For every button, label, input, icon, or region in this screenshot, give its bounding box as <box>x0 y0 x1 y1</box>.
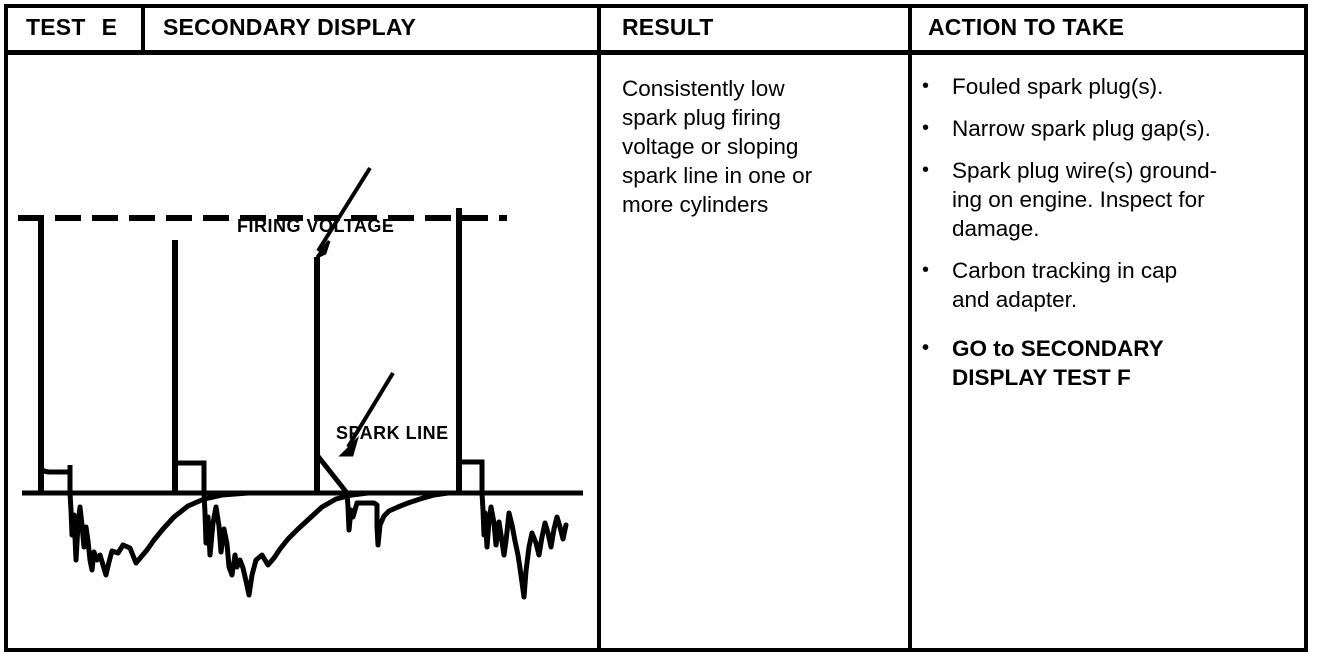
label-spark-line: SPARK LINE <box>336 423 449 444</box>
bullet-icon: • <box>922 114 952 143</box>
header-test-label: TEST <box>26 14 86 41</box>
page-root: TEST E SECONDARY DISPLAY RESULT ACTION T… <box>0 0 1328 662</box>
column-divider-action <box>908 4 912 652</box>
bullet-icon: • <box>922 256 952 285</box>
firing-voltage-leader-line <box>318 168 370 251</box>
list-item-goto[interactable]: • GO to SECONDARY DISPLAY TEST F <box>922 334 1308 392</box>
list-item-text: Carbon tracking in cap and adapter. <box>952 256 1308 314</box>
list-item: • Narrow spark plug gap(s). <box>922 114 1308 143</box>
bullet-icon: • <box>922 334 952 363</box>
column-divider-result <box>597 4 601 652</box>
header-test: TEST E <box>26 10 117 44</box>
list-item: • Fouled spark plug(s). <box>922 72 1308 101</box>
spark-line-2 <box>175 463 204 493</box>
list-item: • Spark plug wire(s) ground- ing on engi… <box>922 156 1308 243</box>
bullet-icon: • <box>922 156 952 185</box>
list-item-text: Narrow spark plug gap(s). <box>952 114 1308 143</box>
spark-line-1 <box>41 465 70 493</box>
list-item: • Carbon tracking in cap and adapter. <box>922 256 1308 314</box>
header-action-to-take: ACTION TO TAKE <box>928 10 1124 44</box>
bullet-icon: • <box>922 72 952 101</box>
label-firing-voltage: FIRING VOLTAGE <box>237 216 394 237</box>
column-divider-test <box>141 4 145 50</box>
secondary-display-waveform-cell: FIRING VOLTAGE SPARK LINE <box>8 55 597 652</box>
oscillation-3 <box>347 493 458 545</box>
header-secondary-display: SECONDARY DISPLAY <box>163 10 416 44</box>
list-item-text: GO to SECONDARY DISPLAY TEST F <box>952 334 1308 392</box>
list-item-text: Spark plug wire(s) ground- ing on engine… <box>952 156 1308 243</box>
oscillation-4 <box>482 493 566 597</box>
oscilloscope-waveform <box>8 55 597 652</box>
result-description: Consistently low spark plug firing volta… <box>622 74 890 219</box>
list-item-text: Fouled spark plug(s). <box>952 72 1308 101</box>
action-list: • Fouled spark plug(s). • Narrow spark p… <box>922 72 1308 405</box>
header-result: RESULT <box>622 10 714 44</box>
spark-line-3-sloping <box>317 455 347 493</box>
header-test-value: E <box>102 14 118 41</box>
spark-line-4 <box>459 462 482 493</box>
